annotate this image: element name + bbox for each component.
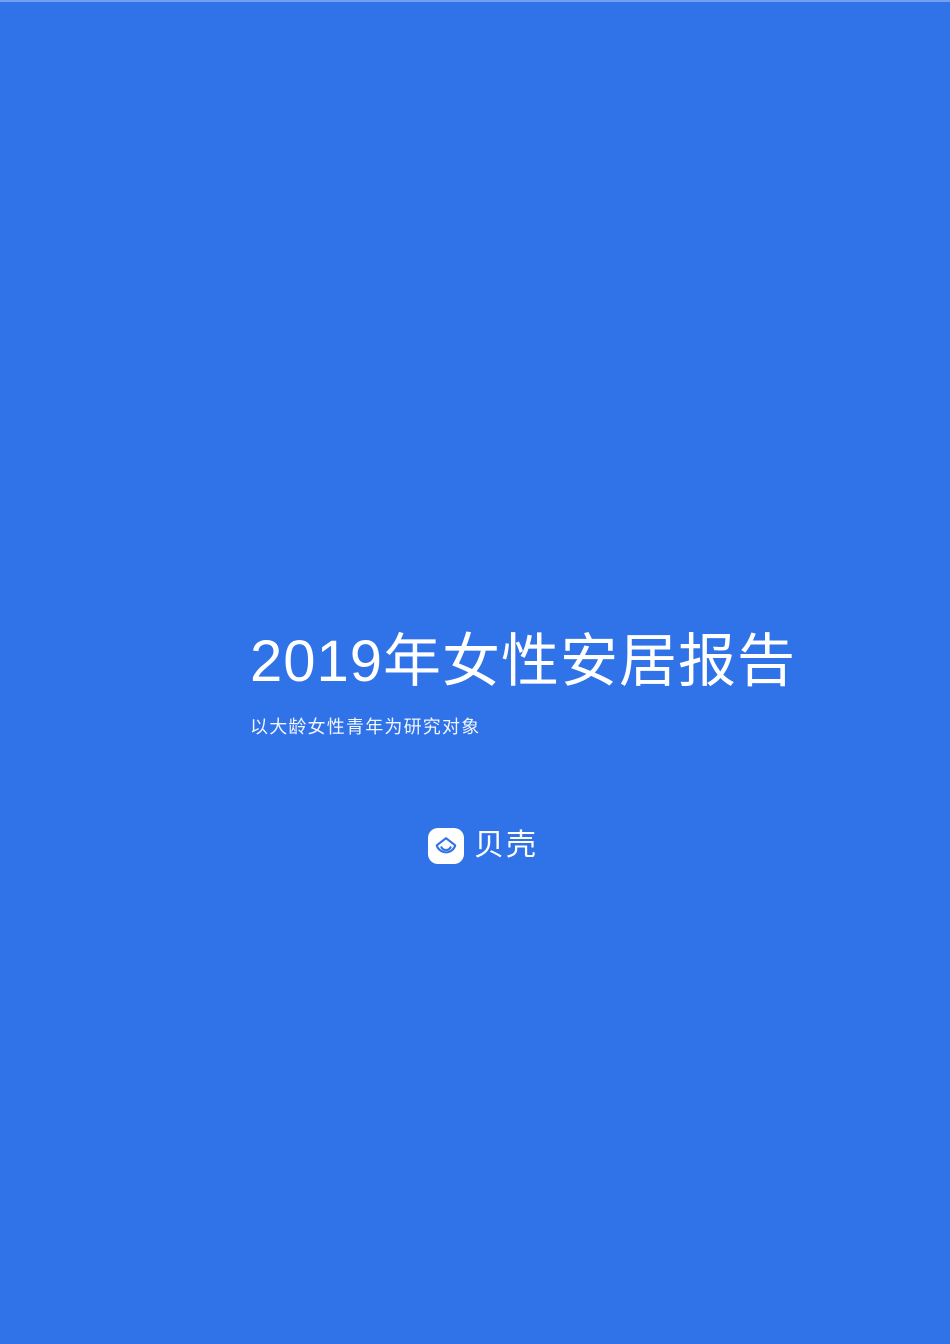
page-subtitle: 以大龄女性青年为研究对象 bbox=[250, 715, 730, 740]
brand-logo: 贝壳 bbox=[428, 828, 538, 864]
cover-text-block: 2019年女性安居报告 以大龄女性青年为研究对象 bbox=[250, 628, 730, 740]
brand-name-label: 贝壳 bbox=[474, 831, 538, 861]
page-title: 2019年女性安居报告 bbox=[250, 628, 730, 695]
beike-shell-house-icon bbox=[428, 828, 464, 864]
page-top-edge-line bbox=[0, 0, 950, 2]
cover-page: 2019年女性安居报告 以大龄女性青年为研究对象 贝壳 bbox=[0, 0, 950, 1344]
